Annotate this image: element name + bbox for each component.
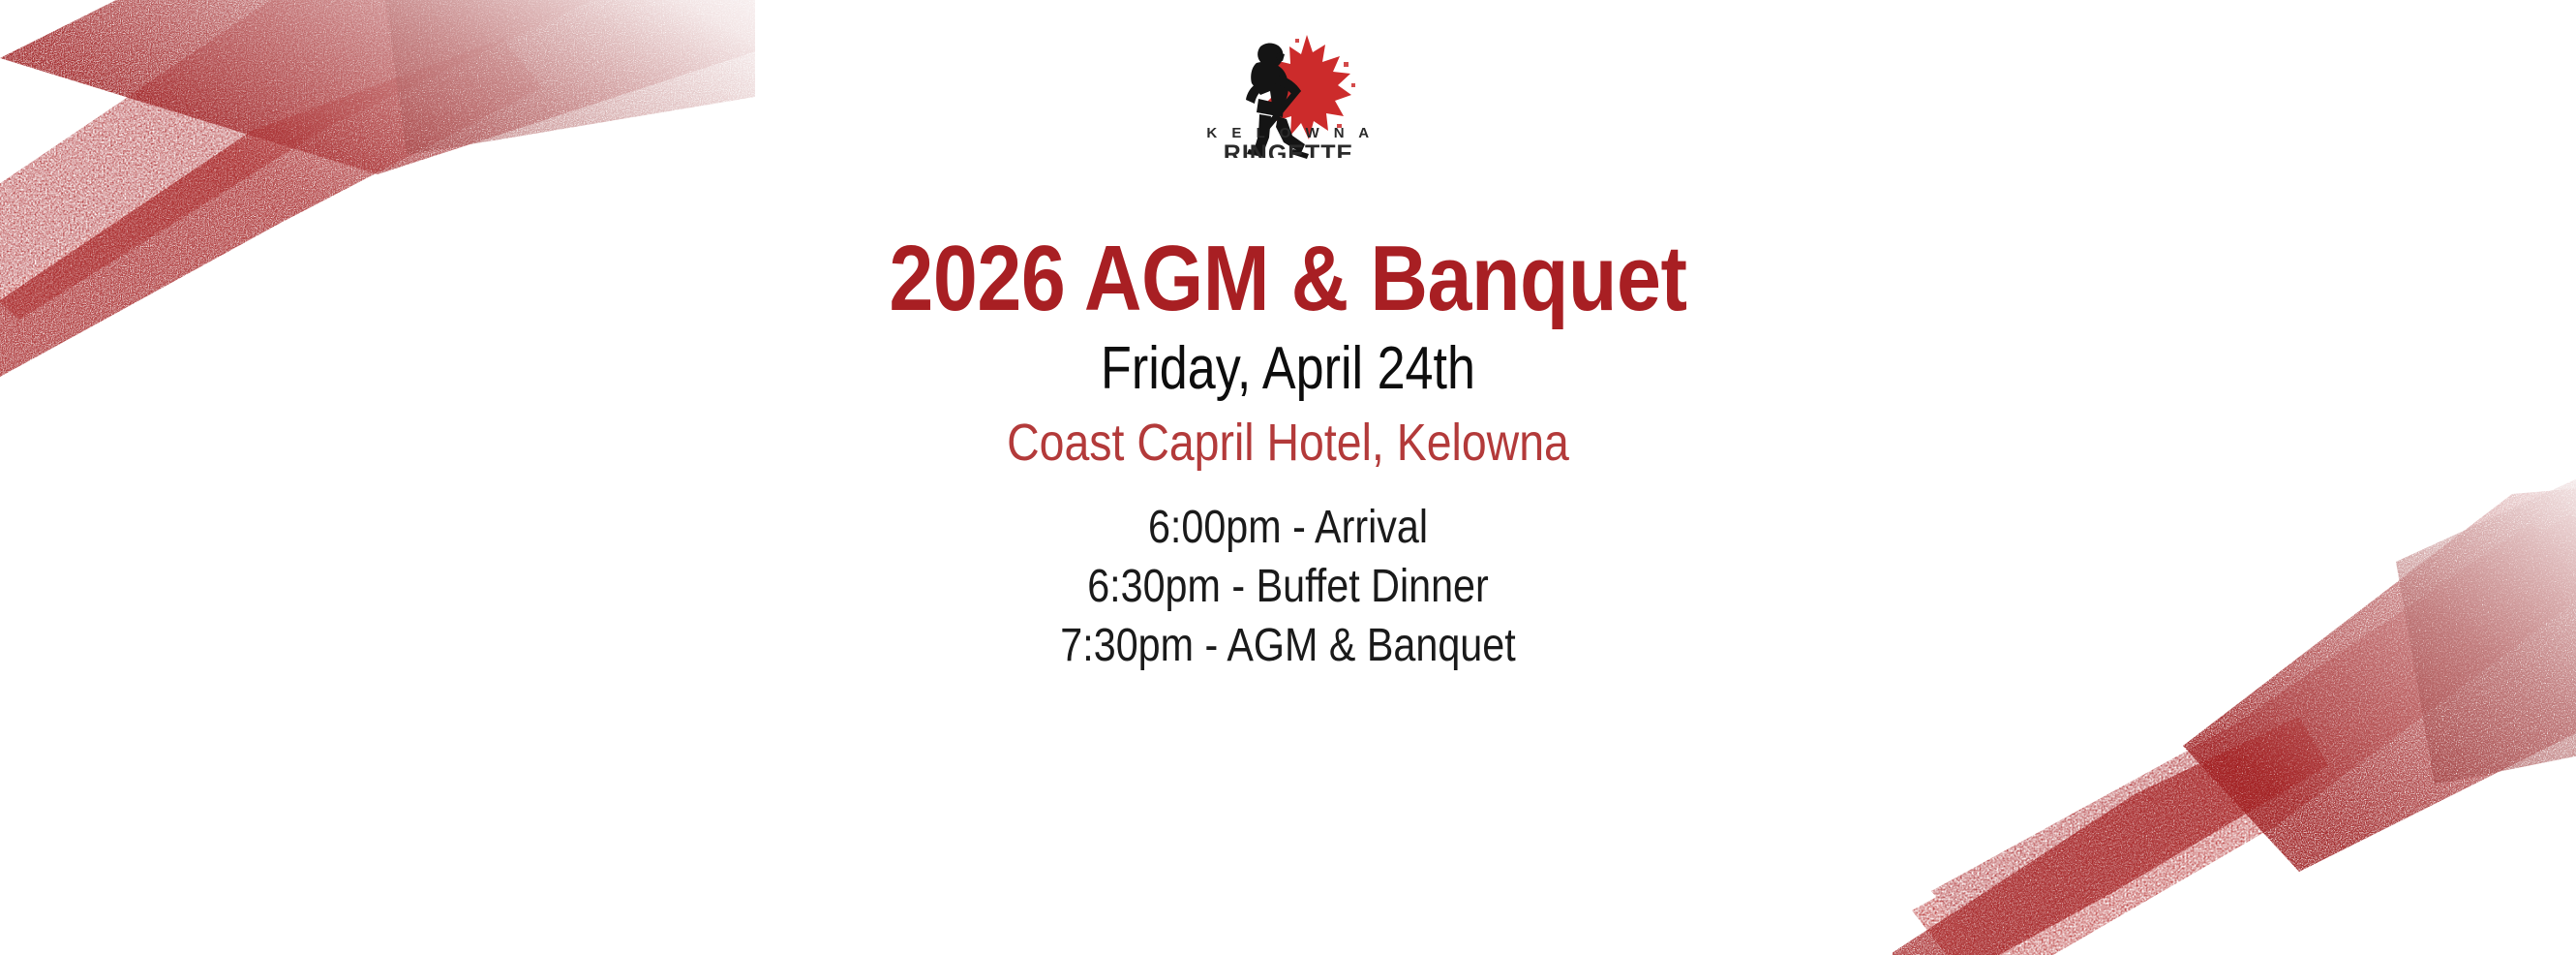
kelowna-ringette-logo: K E L O W N A RINGETTE <box>1198 27 1379 200</box>
event-venue: Coast Capril Hotel, Kelowna <box>180 414 2395 472</box>
logo-word-ringette: RINGETTE <box>1198 142 1379 158</box>
schedule-item: 6:30pm - Buffet Dinner <box>180 557 2395 616</box>
event-banner: K E L O W N A RINGETTE 2026 AGM & Banque… <box>0 0 2576 955</box>
schedule-item: 7:30pm - AGM & Banquet <box>180 616 2395 675</box>
event-date: Friday, April 24th <box>206 335 2370 402</box>
schedule-item: 6:00pm - Arrival <box>180 498 2395 557</box>
logo-wordmark: K E L O W N A RINGETTE <box>1198 126 1379 158</box>
event-details: 2026 AGM & Banquet Friday, April 24th Co… <box>0 229 2576 676</box>
logo-word-kelowna: K E L O W N A <box>1198 126 1379 140</box>
event-title: 2026 AGM & Banquet <box>180 229 2395 329</box>
logo-container: K E L O W N A RINGETTE <box>0 27 2576 201</box>
event-schedule: 6:00pm - Arrival 6:30pm - Buffet Dinner … <box>0 498 2576 676</box>
